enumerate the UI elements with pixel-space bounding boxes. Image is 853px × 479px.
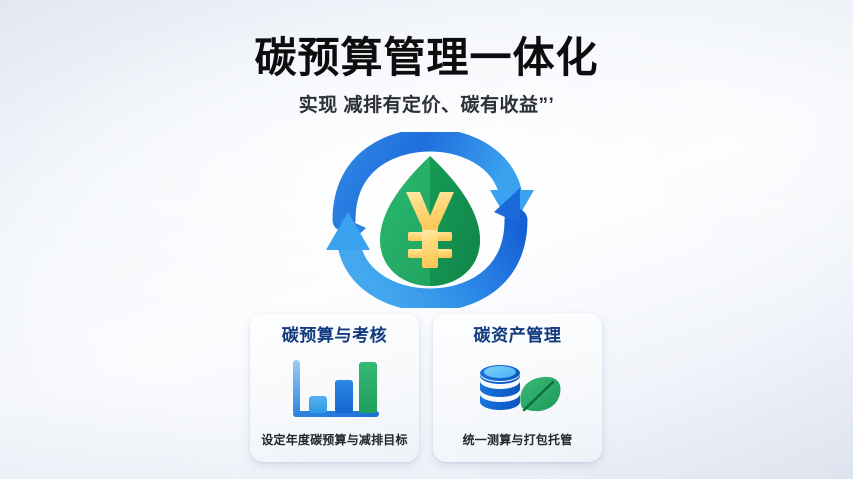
database-leaf-icon — [433, 347, 602, 432]
feature-card-description: 设定年度碳预算与减排目标 — [261, 432, 407, 462]
slide-canvas: 碳预算管理一体化 实现 减排有定价、碳有收益”’ — [0, 0, 853, 479]
page-subtitle: 实现 减排有定价、碳有收益”’ — [0, 93, 853, 119]
carbon-budget-cycle-emblem — [314, 132, 546, 308]
feature-card-title: 碳资产管理 — [474, 325, 562, 347]
feature-card-row: 碳预算与考核 — [250, 314, 602, 462]
database-stack — [480, 365, 520, 410]
feature-card-description: 统一测算与打包托管 — [463, 432, 573, 462]
page-title: 碳预算管理一体化 — [0, 33, 853, 83]
leaf-accent — [520, 376, 560, 410]
feature-card-carbon-budget-assessment[interactable]: 碳预算与考核 — [250, 314, 419, 462]
feature-card-title: 碳预算与考核 — [282, 325, 388, 347]
feature-card-carbon-asset-management[interactable]: 碳资产管理 — [433, 314, 602, 462]
bar-chart-icon — [250, 347, 419, 432]
